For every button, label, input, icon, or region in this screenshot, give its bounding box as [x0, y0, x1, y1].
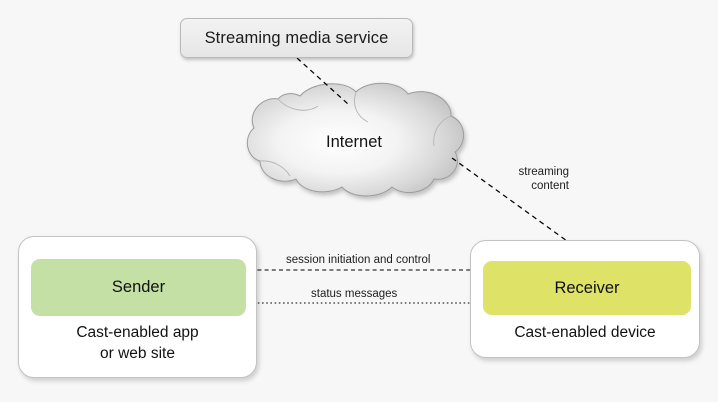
- internet-cloud-node: Internet: [248, 84, 466, 200]
- sender-panel: Sender Cast-enabled app or web site: [18, 236, 257, 378]
- receiver-panel: Receiver Cast-enabled device: [470, 240, 700, 358]
- receiver-caption-line1: Cast-enabled device: [471, 323, 699, 344]
- streaming-media-service-node: Streaming media service: [180, 18, 413, 58]
- receiver-box: Receiver: [483, 261, 691, 315]
- sender-caption-line2: or web site: [19, 344, 256, 365]
- streaming-media-service-label: Streaming media service: [205, 29, 389, 48]
- diagram-canvas: Streaming media service Internet Sender …: [0, 0, 718, 402]
- receiver-caption: Cast-enabled device: [471, 323, 699, 344]
- sender-box: Sender: [31, 259, 246, 316]
- edge-label-streaming-content-line1: streaming: [497, 165, 569, 179]
- internet-cloud-label: Internet: [248, 84, 466, 200]
- sender-label: Sender: [112, 278, 165, 297]
- sender-caption: Cast-enabled app or web site: [19, 323, 256, 365]
- edge-label-streaming-content: streaming content: [497, 165, 569, 194]
- receiver-label: Receiver: [554, 279, 619, 298]
- edge-label-status-messages: status messages: [311, 287, 397, 301]
- edge-label-session-initiation: session initiation and control: [286, 253, 430, 267]
- edge-label-streaming-content-line2: content: [497, 179, 569, 193]
- sender-caption-line1: Cast-enabled app: [19, 323, 256, 344]
